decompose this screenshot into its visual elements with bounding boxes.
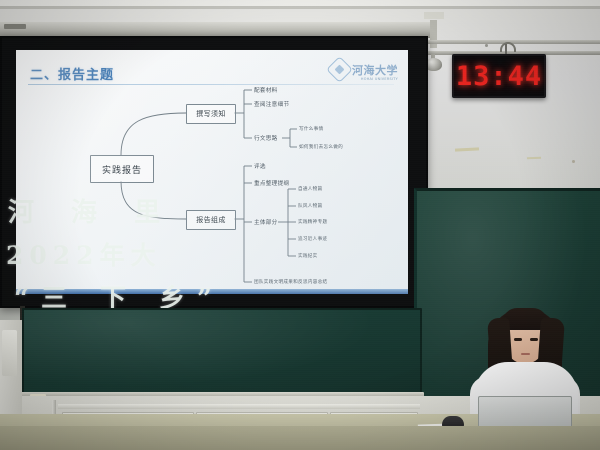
- wall-spot: [572, 160, 575, 163]
- chalk-line: 河 海 里: [8, 192, 174, 229]
- rail-mount-top: [424, 12, 444, 19]
- chalk-line: 2022年大: [6, 236, 162, 272]
- mouth: [521, 353, 530, 355]
- desk-front-panel: [0, 426, 600, 450]
- mindmap-subleaf: 如何我们去怎么做的: [299, 144, 343, 150]
- mindmap-subleaf: 队风人物篇: [298, 203, 322, 209]
- wall-mounted-box: [2, 330, 17, 376]
- eye-left: [514, 338, 522, 341]
- mindmap-subleaf: 写什么事情: [299, 126, 323, 132]
- cabinet-rail: [58, 404, 420, 409]
- mindmap-leaf: 评选: [254, 162, 266, 170]
- mindmap-branch-node-1: 撰写须知: [186, 104, 236, 124]
- mindmap-subleaf: 实践精神专题: [298, 219, 327, 225]
- mindmap-leaf: 行文思路: [254, 134, 278, 142]
- mindmap-subleaf: 自通人物篇: [298, 186, 322, 192]
- roller-end-cap: [4, 24, 26, 29]
- blackboard-lower: [22, 308, 422, 400]
- clock-time-display: 13:44: [456, 61, 542, 92]
- board-sheen: [24, 310, 420, 398]
- wall-screw: [485, 44, 488, 47]
- mindmap-subleaf: 实践纪实: [298, 253, 318, 259]
- mindmap-leaf: 配套材料: [254, 86, 278, 94]
- mindmap-leaf: 团队实践文明成果和反思内容总结: [254, 279, 327, 285]
- eye-right: [530, 338, 538, 341]
- mindmap-center-node: 实践报告: [90, 155, 154, 183]
- clock-hook: [500, 42, 516, 52]
- mindmap-subleaf: 追习近人事迹: [298, 236, 327, 242]
- mindmap-branch-node-2: 报告组成: [186, 210, 236, 230]
- mindmap-leaf: 重点整理提纲: [254, 179, 289, 187]
- digital-clock: 13:44: [452, 54, 546, 98]
- mindmap-leaf: 主体部分: [254, 218, 278, 226]
- classroom-scene: 13:44 二、报告主题 河海大学 HOHAI UNIVERSITY: [0, 0, 600, 450]
- mindmap-leaf: 查阅注意细节: [254, 100, 289, 108]
- ceiling-edge: [0, 6, 600, 9]
